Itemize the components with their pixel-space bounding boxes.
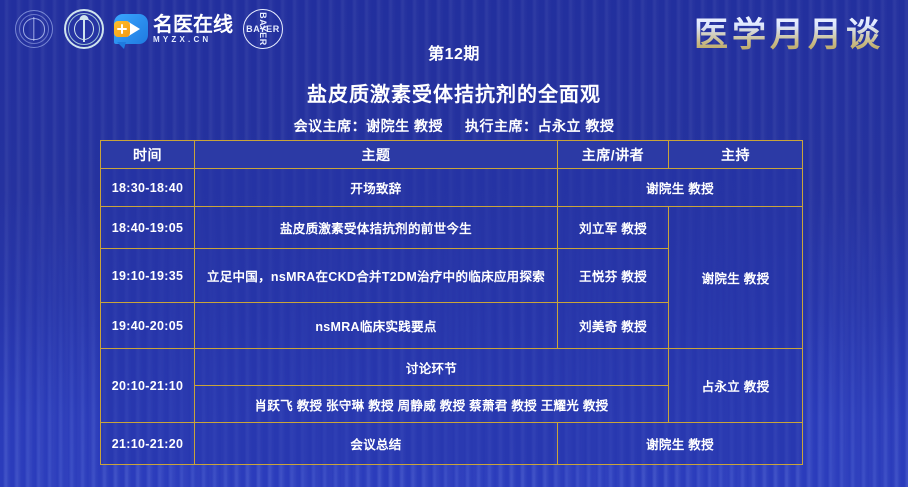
bayer-logo-text-vertical: BAYER	[258, 12, 268, 46]
agenda-row: 18:40-19:05 盐皮质激素受体拮抗剂的前世今生 刘立军 教授 谢院生 教…	[101, 207, 803, 249]
conference-chair-name: 谢院生 教授	[366, 118, 443, 134]
agenda-header-row: 时间 主题 主席/讲者 主持	[101, 141, 803, 169]
chairperson-line: 会议主席：谢院生 教授执行主席：占永立 教授	[0, 116, 908, 136]
column-header-speaker: 主席/讲者	[558, 141, 669, 169]
medical-plus-icon	[114, 21, 130, 37]
agenda-row: 21:10-21:20 会议总结 谢院生 教授	[101, 423, 803, 465]
column-header-moderator: 主持	[669, 141, 803, 169]
row-topic: 立足中国，nsMRA在CKD合并T2DM治疗中的临床应用探索	[195, 249, 558, 303]
header-bar: 名医在线 MYZX.CN BAYER BAYER 医学月月谈	[0, 0, 908, 58]
row-speaker: 刘立军 教授	[558, 207, 669, 249]
row-speaker-moderator-merged: 谢院生 教授	[558, 169, 803, 207]
row-time: 18:40-19:05	[101, 207, 195, 249]
myzx-logo: 名医在线 MYZX.CN	[114, 9, 233, 49]
agenda-row-discussion: 20:10-21:10 讨论环节 占永立 教授	[101, 349, 803, 386]
executive-chair-label: 执行主席：	[465, 118, 538, 134]
agenda-row: 18:30-18:40 开场致辞 谢院生 教授	[101, 169, 803, 207]
row-panelists: 肖跃飞 教授 张守琳 教授 周静威 教授 蔡萧君 教授 王耀光 教授	[195, 386, 669, 423]
chinese-medical-association-logo-icon	[14, 9, 54, 49]
executive-chair-name: 占永立 教授	[538, 118, 615, 134]
row-topic: 讨论环节	[195, 349, 669, 386]
myzx-logo-cn: 名医在线	[153, 14, 233, 34]
row-moderator: 谢院生 教授	[669, 207, 803, 349]
page-title: 盐皮质激素受体拮抗剂的全面观	[0, 78, 908, 107]
column-header-topic: 主题	[195, 141, 558, 169]
myzx-logo-en: MYZX.CN	[153, 36, 233, 44]
bayer-logo-icon: BAYER BAYER	[243, 9, 283, 49]
agenda-table: 时间 主题 主席/讲者 主持 18:30-18:40 开场致辞 谢院生 教授 1…	[100, 140, 803, 465]
row-time: 21:10-21:20	[101, 423, 195, 465]
row-speaker: 刘美奇 教授	[558, 303, 669, 349]
row-topic: 开场致辞	[195, 169, 558, 207]
row-topic: 盐皮质激素受体拮抗剂的前世今生	[195, 207, 558, 249]
poster-canvas: 名医在线 MYZX.CN BAYER BAYER 医学月月谈 第12期 盐皮质激…	[0, 0, 908, 487]
conference-chair-label: 会议主席：	[294, 118, 367, 134]
row-time: 18:30-18:40	[101, 169, 195, 207]
row-speaker: 王悦芬 教授	[558, 249, 669, 303]
column-header-time: 时间	[101, 141, 195, 169]
row-speaker-moderator-merged: 谢院生 教授	[558, 423, 803, 465]
row-topic: 会议总结	[195, 423, 558, 465]
row-topic: nsMRA临床实践要点	[195, 303, 558, 349]
row-time: 19:40-20:05	[101, 303, 195, 349]
logo-strip: 名医在线 MYZX.CN BAYER BAYER	[14, 9, 283, 49]
row-time: 19:10-19:35	[101, 249, 195, 303]
row-moderator: 占永立 教授	[669, 349, 803, 423]
myzx-bubble-icon	[114, 14, 148, 44]
brand-title: 医学月月谈	[694, 7, 884, 56]
row-time: 20:10-21:10	[101, 349, 195, 423]
hospital-emblem-logo-icon	[64, 9, 104, 49]
